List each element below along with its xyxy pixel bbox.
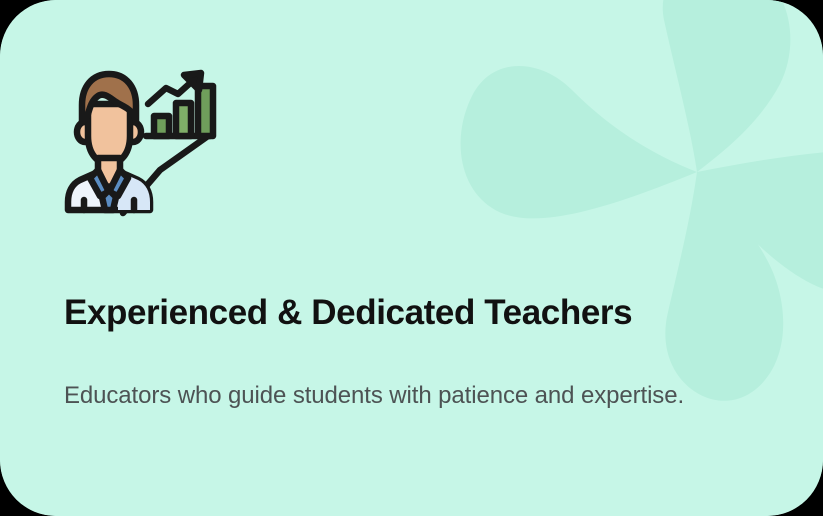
card-title: Experienced & Dedicated Teachers <box>64 292 764 334</box>
chart-bar-2 <box>176 103 191 136</box>
chart-bar-3 <box>198 86 213 136</box>
card-content: Experienced & Dedicated Teachers Educato… <box>0 0 823 516</box>
tie-icon <box>102 190 116 210</box>
card-description: Educators who guide students with patien… <box>64 370 754 421</box>
teacher-with-growth-chart-icon <box>60 60 220 220</box>
feature-card[interactable]: Experienced & Dedicated Teachers Educato… <box>0 0 823 516</box>
chart-bar-1 <box>154 116 169 136</box>
